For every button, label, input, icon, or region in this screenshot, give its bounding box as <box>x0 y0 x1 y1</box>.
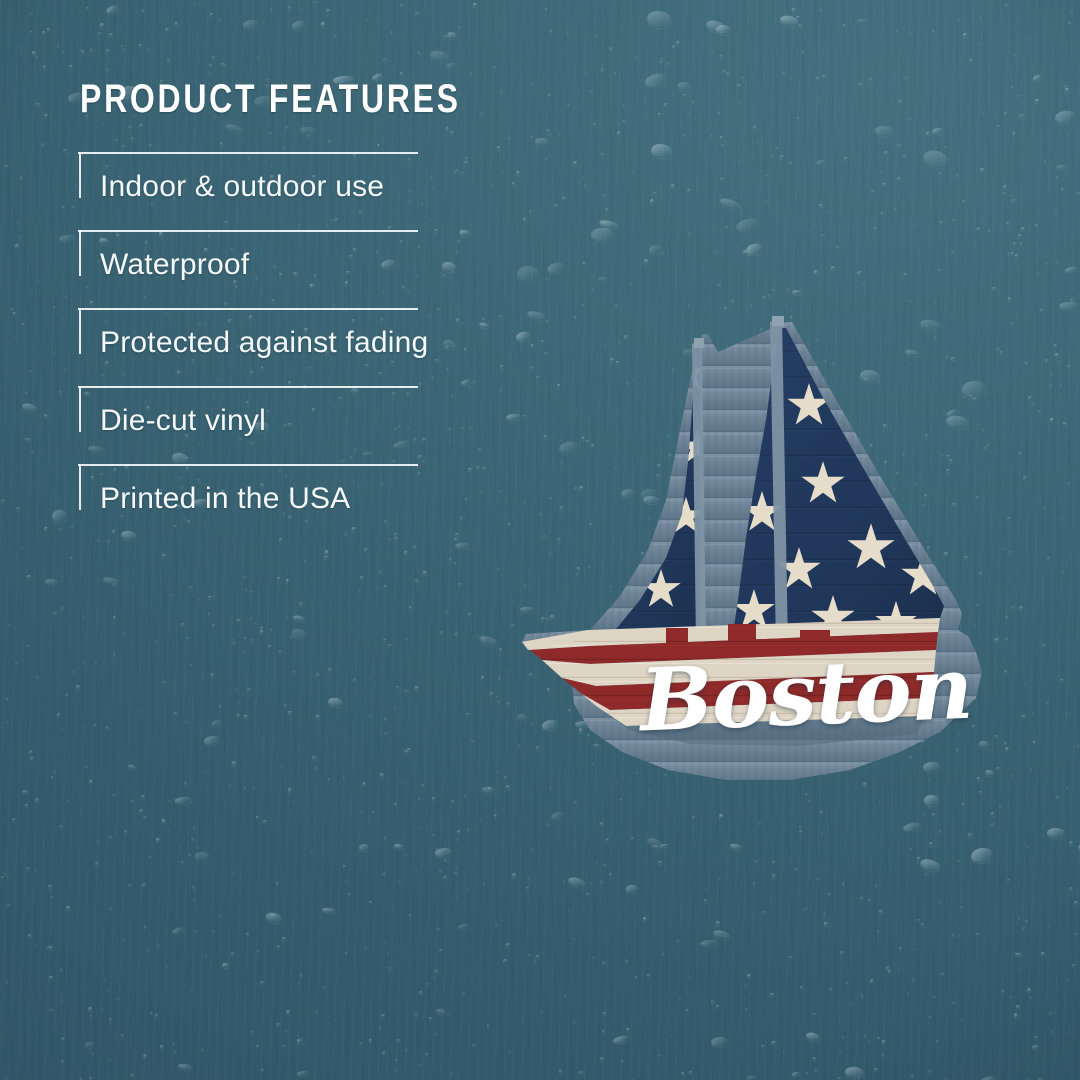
feature-divider-rule <box>78 152 418 154</box>
sticker-caption-boston: Boston <box>638 646 973 745</box>
feature-divider-rule <box>78 386 418 388</box>
poster-canvas: PRODUCT FEATURES Indoor & outdoor useWat… <box>0 0 1080 1080</box>
page-title: PRODUCT FEATURES <box>80 78 461 120</box>
sailboat-sticker: Boston <box>470 300 990 800</box>
feature-divider-tick <box>79 230 81 276</box>
feature-item: Waterproof <box>0 230 520 308</box>
feature-label: Waterproof <box>100 248 249 282</box>
product-features-panel: PRODUCT FEATURES Indoor & outdoor useWat… <box>0 0 520 560</box>
feature-item: Printed in the USA <box>0 464 520 542</box>
feature-divider-rule <box>78 308 418 310</box>
feature-divider-rule <box>78 230 418 232</box>
feature-divider-tick <box>79 152 81 198</box>
feature-label: Die-cut vinyl <box>100 404 266 438</box>
feature-divider-tick <box>79 308 81 354</box>
feature-list: Indoor & outdoor useWaterproofProtected … <box>0 152 520 542</box>
feature-item: Protected against fading <box>0 308 520 386</box>
feature-item: Indoor & outdoor use <box>0 152 520 230</box>
feature-divider-rule <box>78 464 418 466</box>
feature-label: Indoor & outdoor use <box>100 170 384 204</box>
feature-divider-tick <box>79 386 81 432</box>
feature-label: Printed in the USA <box>100 482 350 516</box>
feature-item: Die-cut vinyl <box>0 386 520 464</box>
feature-divider-tick <box>79 464 81 510</box>
feature-label: Protected against fading <box>100 326 428 360</box>
